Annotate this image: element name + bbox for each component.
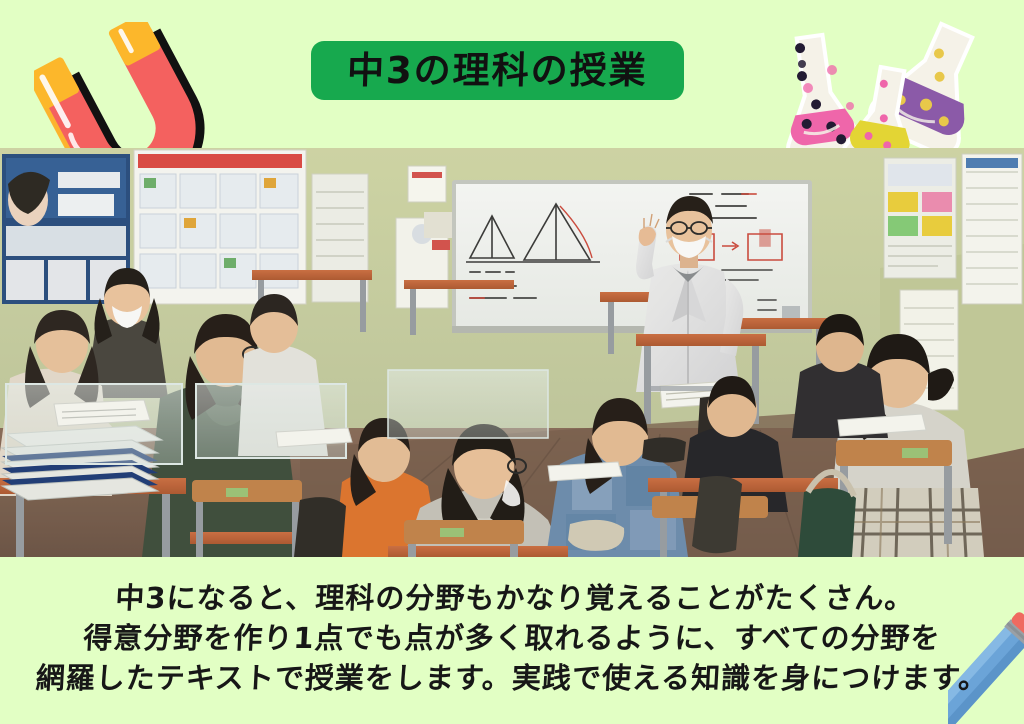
caption-line-1: 中3になると、理科の分野もかなり覚えることがたくさん。 bbox=[0, 578, 1024, 618]
bubble-icon bbox=[846, 102, 854, 110]
classroom-photo bbox=[0, 148, 1024, 557]
page-title: 中3の理科の授業 bbox=[346, 52, 648, 89]
caption-line-3: 網羅したテキストで授業をします。実践で使える知識を身につけます。 bbox=[0, 658, 1024, 698]
page-title-banner: 中3の理科の授業 bbox=[311, 41, 684, 100]
caption-block: 中3になると、理科の分野もかなり覚えることがたくさん。 得意分野を作り1点でも点… bbox=[0, 578, 1024, 698]
caption-line-2: 得意分野を作り1点でも点が多く取れるように、すべての分野を bbox=[0, 618, 1024, 658]
bubble-icon bbox=[798, 60, 806, 68]
classroom-scene bbox=[0, 148, 1024, 557]
bubble-icon bbox=[803, 83, 813, 93]
bubble-icon bbox=[827, 65, 837, 75]
poster-page: 中3の理科の授業 bbox=[0, 0, 1024, 724]
